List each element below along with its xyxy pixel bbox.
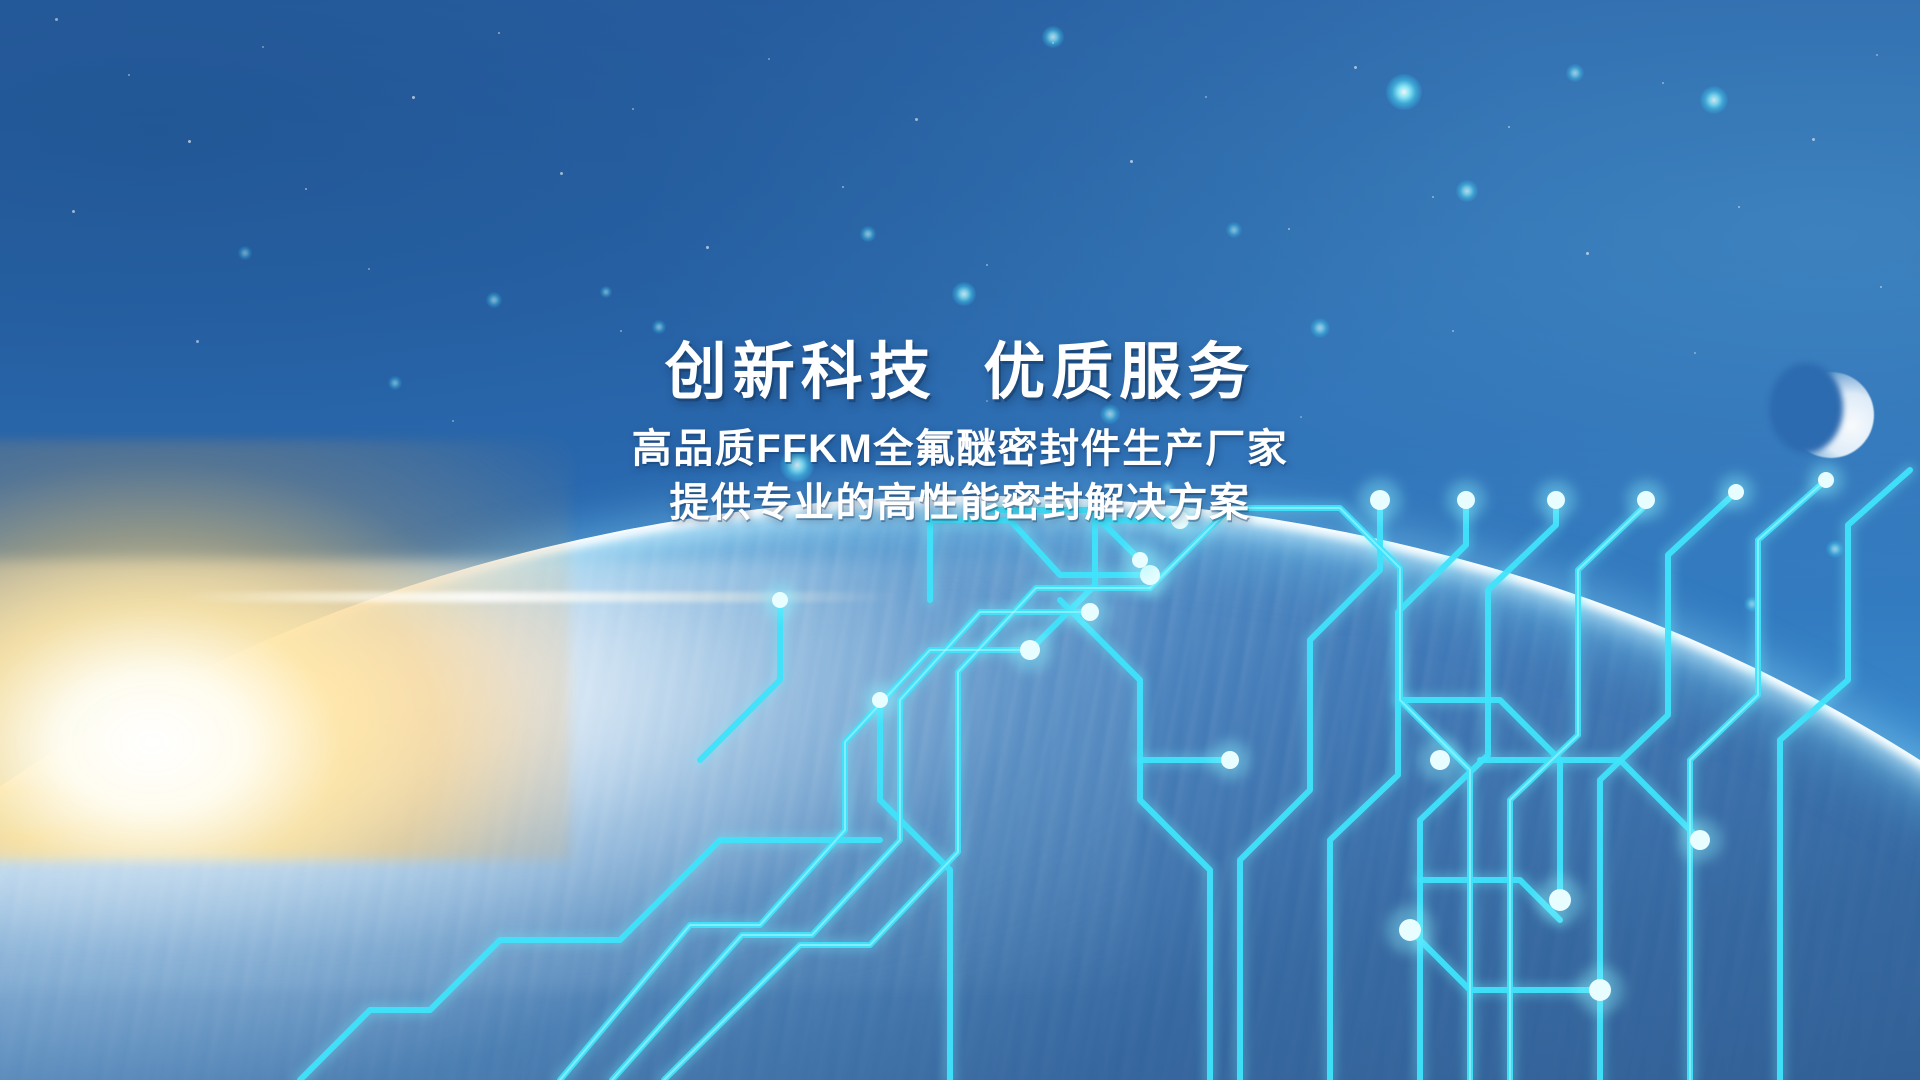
page-title: 创新科技 优质服务 — [0, 340, 1920, 407]
hero-banner: 创新科技 优质服务 高品质FFKM全氟醚密封件生产厂家 提供专业的高性能密封解决… — [0, 0, 1920, 1080]
banner-text-block: 创新科技 优质服务 高品质FFKM全氟醚密封件生产厂家 提供专业的高性能密封解决… — [0, 340, 1920, 530]
subtitle-line-2: 提供专业的高性能密封解决方案 — [0, 477, 1920, 531]
horizon-light-streak — [180, 592, 900, 602]
subtitle-line-1: 高品质FFKM全氟醚密封件生产厂家 — [0, 423, 1920, 477]
